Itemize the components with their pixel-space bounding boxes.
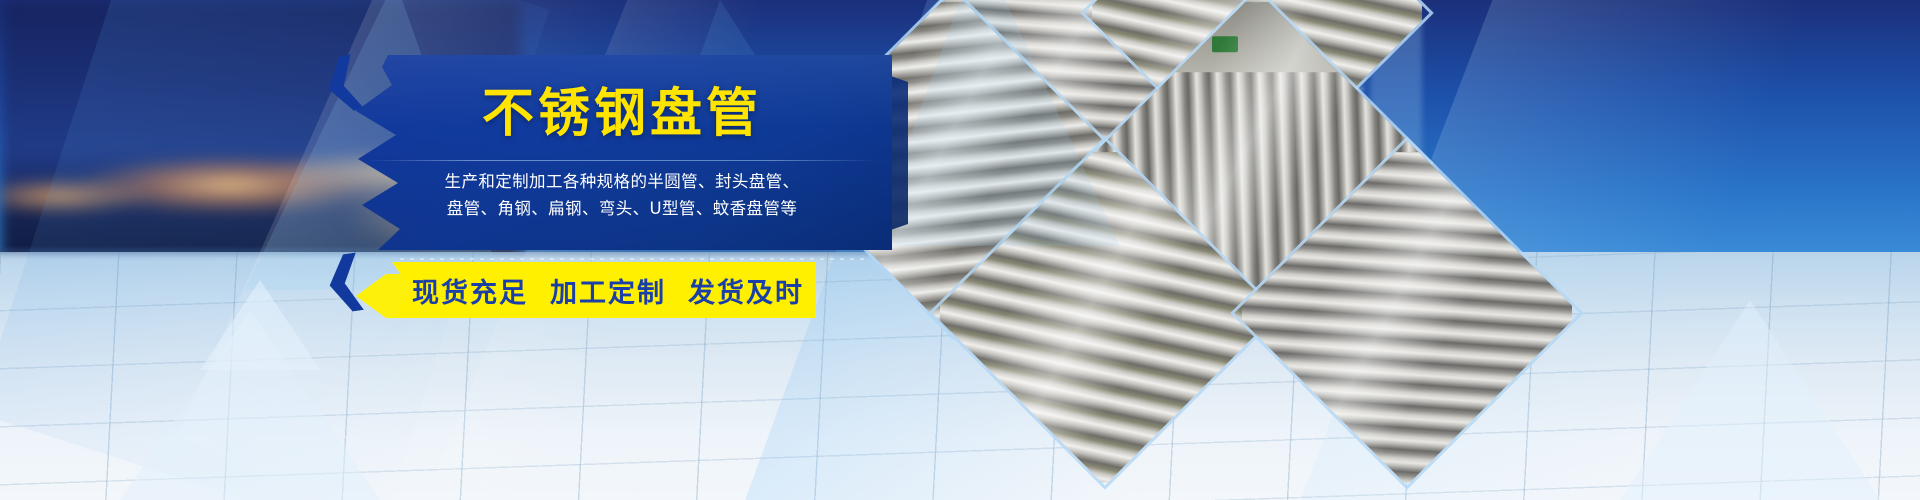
title-divider bbox=[368, 160, 878, 161]
dotted-divider bbox=[400, 258, 870, 260]
banner-content: 不锈钢盘管 生产和定制加工各种规格的半圆管、封头盘管、 盘管、角钢、扁钢、弯头、… bbox=[0, 0, 900, 500]
glass-triangle-right bbox=[1620, 300, 1880, 500]
product-image-mosaic bbox=[830, 0, 1390, 500]
subtitle-line-2: 盘管、角钢、扁钢、弯头、U型管、蚊香盘管等 bbox=[352, 195, 892, 222]
slogan-item-3: 发货及时 bbox=[688, 271, 804, 310]
slogan-ribbon: 现货充足 加工定制 发货及时 bbox=[356, 262, 816, 318]
banner-subtitle: 生产和定制加工各种规格的半圆管、封头盘管、 盘管、角钢、扁钢、弯头、U型管、蚊香… bbox=[352, 168, 892, 222]
slogan-text-group: 现货充足 加工定制 发货及时 bbox=[400, 262, 816, 318]
ghost-triangle bbox=[200, 280, 320, 370]
slogan-item-2: 加工定制 bbox=[550, 271, 666, 310]
product-hero-banner: 不锈钢盘管 生产和定制加工各种规格的半圆管、封头盘管、 盘管、角钢、扁钢、弯头、… bbox=[0, 0, 1920, 500]
banner-title: 不锈钢盘管 bbox=[352, 88, 892, 140]
subtitle-line-1: 生产和定制加工各种规格的半圆管、封头盘管、 bbox=[352, 168, 892, 195]
slogan-item-1: 现货充足 bbox=[412, 271, 528, 310]
